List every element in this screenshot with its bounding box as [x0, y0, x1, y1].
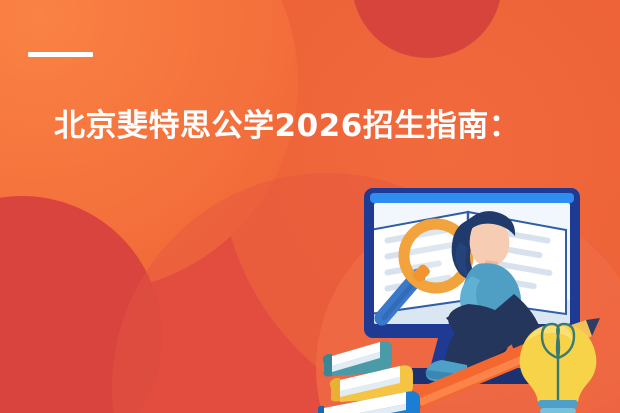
idea-lightbulb-icon [520, 324, 597, 413]
study-research-illustration [318, 168, 620, 413]
stacked-books [318, 341, 420, 413]
accent-rule [28, 52, 93, 57]
promo-banner: 北京斐特思公学2026招生指南： [0, 0, 620, 413]
page-title: 北京斐特思公学2026招生指南： [54, 106, 574, 146]
